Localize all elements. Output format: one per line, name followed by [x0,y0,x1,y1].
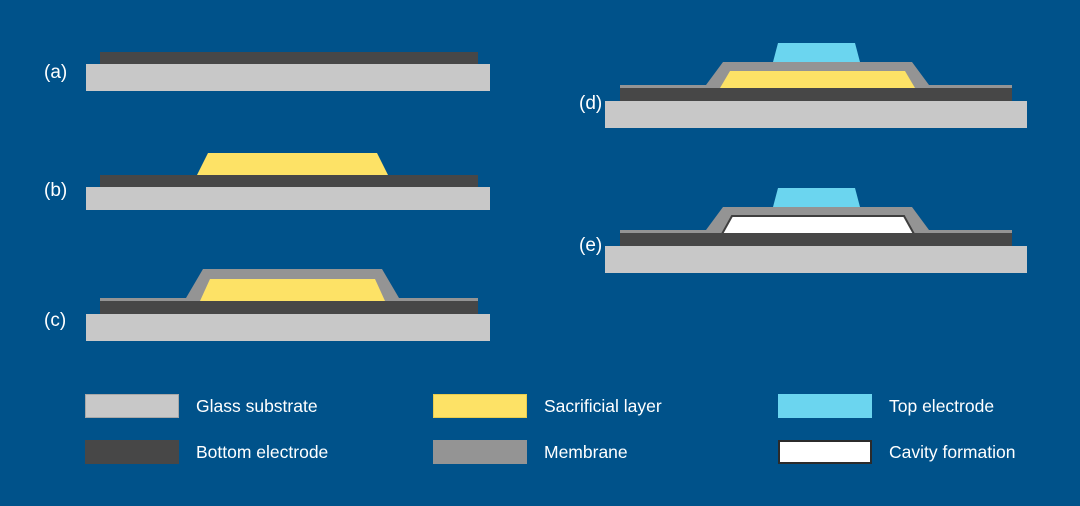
legend-swatch-bottom-electrode [85,440,179,464]
legend-item-top-electrode: Top electrode [778,394,994,418]
legend-label-glass-substrate: Glass substrate [196,396,318,417]
legend-item-sacrificial-layer: Sacrificial layer [433,394,662,418]
legend-swatch-cavity-formation [778,440,872,464]
legend-label-top-electrode: Top electrode [889,396,994,417]
legend-swatch-sacrificial-layer [433,394,527,418]
legend-label-bottom-electrode: Bottom electrode [196,442,328,463]
legend: Glass substrate Bottom electrode Sacrifi… [0,0,1080,506]
legend-label-membrane: Membrane [544,442,628,463]
legend-item-cavity-formation: Cavity formation [778,440,1015,464]
legend-swatch-membrane [433,440,527,464]
legend-item-bottom-electrode: Bottom electrode [85,440,328,464]
legend-item-membrane: Membrane [433,440,628,464]
legend-swatch-top-electrode [778,394,872,418]
legend-swatch-glass-substrate [85,394,179,418]
legend-item-glass-substrate: Glass substrate [85,394,318,418]
legend-label-cavity-formation: Cavity formation [889,442,1015,463]
legend-label-sacrificial-layer: Sacrificial layer [544,396,662,417]
fabrication-process-figure: (a) (b) (c) (d) [0,0,1080,506]
